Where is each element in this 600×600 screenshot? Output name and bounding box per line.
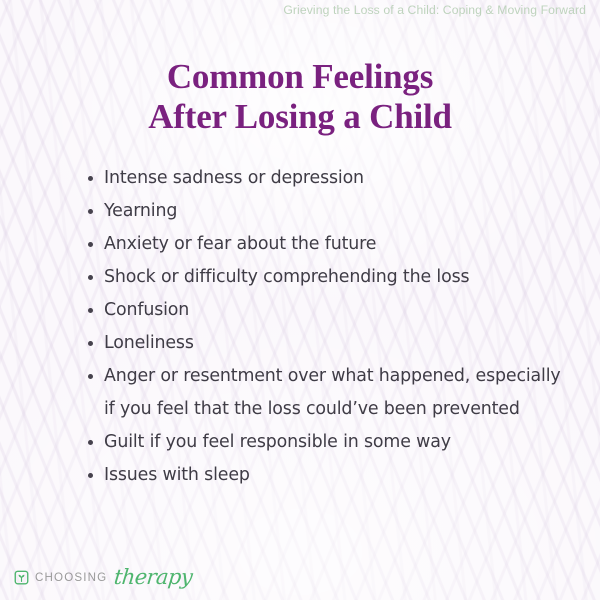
bullet-icon	[88, 440, 93, 445]
logo-wordmark: CHOOSING	[35, 572, 107, 584]
article-kicker: Grieving the Loss of a Child: Coping & M…	[283, 3, 586, 17]
list-item-label: Confusion	[104, 300, 189, 320]
logo-script-wordmark: therapy	[113, 567, 193, 588]
page-title-line-2: After Losing a Child	[0, 97, 600, 137]
list-item-label: Anxiety or fear about the future	[104, 234, 376, 254]
list-item-label: Guilt if you feel responsible in some wa…	[104, 432, 451, 452]
bullet-icon	[88, 275, 93, 280]
list-item: Guilt if you feel responsible in some wa…	[84, 426, 564, 459]
list-item: Shock or difficulty comprehending the lo…	[84, 261, 564, 294]
list-item: Anxiety or fear about the future	[84, 228, 564, 261]
infographic-canvas: Grieving the Loss of a Child: Coping & M…	[0, 0, 600, 600]
bullet-icon	[88, 308, 93, 313]
list-item: Issues with sleep	[84, 459, 564, 492]
list-item-label: Issues with sleep	[104, 465, 250, 485]
list-item: Confusion	[84, 294, 564, 327]
list-item-label: Loneliness	[104, 333, 194, 353]
page-title-line-1: Common Feelings	[167, 57, 433, 96]
list-item-label: Yearning	[104, 201, 177, 221]
choosing-therapy-logo[interactable]: CHOOSING therapy	[14, 567, 192, 588]
bullet-icon	[88, 473, 93, 478]
plant-in-box-icon	[14, 570, 29, 585]
bullet-icon	[88, 242, 93, 247]
list-item-label: Intense sadness or depression	[104, 168, 364, 188]
list-item: Intense sadness or depression	[84, 162, 564, 195]
bullet-icon	[88, 374, 93, 379]
bullet-icon	[88, 209, 93, 214]
list-item-label: Shock or difficulty comprehending the lo…	[104, 267, 469, 287]
feelings-list: Intense sadness or depressionYearningAnx…	[84, 162, 564, 492]
list-item: Anger or resentment over what happened, …	[84, 360, 564, 426]
page-title: Common Feelings After Losing a Child	[0, 57, 600, 137]
bullet-icon	[88, 176, 93, 181]
list-item-label: Anger or resentment over what happened, …	[104, 366, 561, 419]
list-item: Yearning	[84, 195, 564, 228]
list-item: Loneliness	[84, 327, 564, 360]
bullet-icon	[88, 341, 93, 346]
